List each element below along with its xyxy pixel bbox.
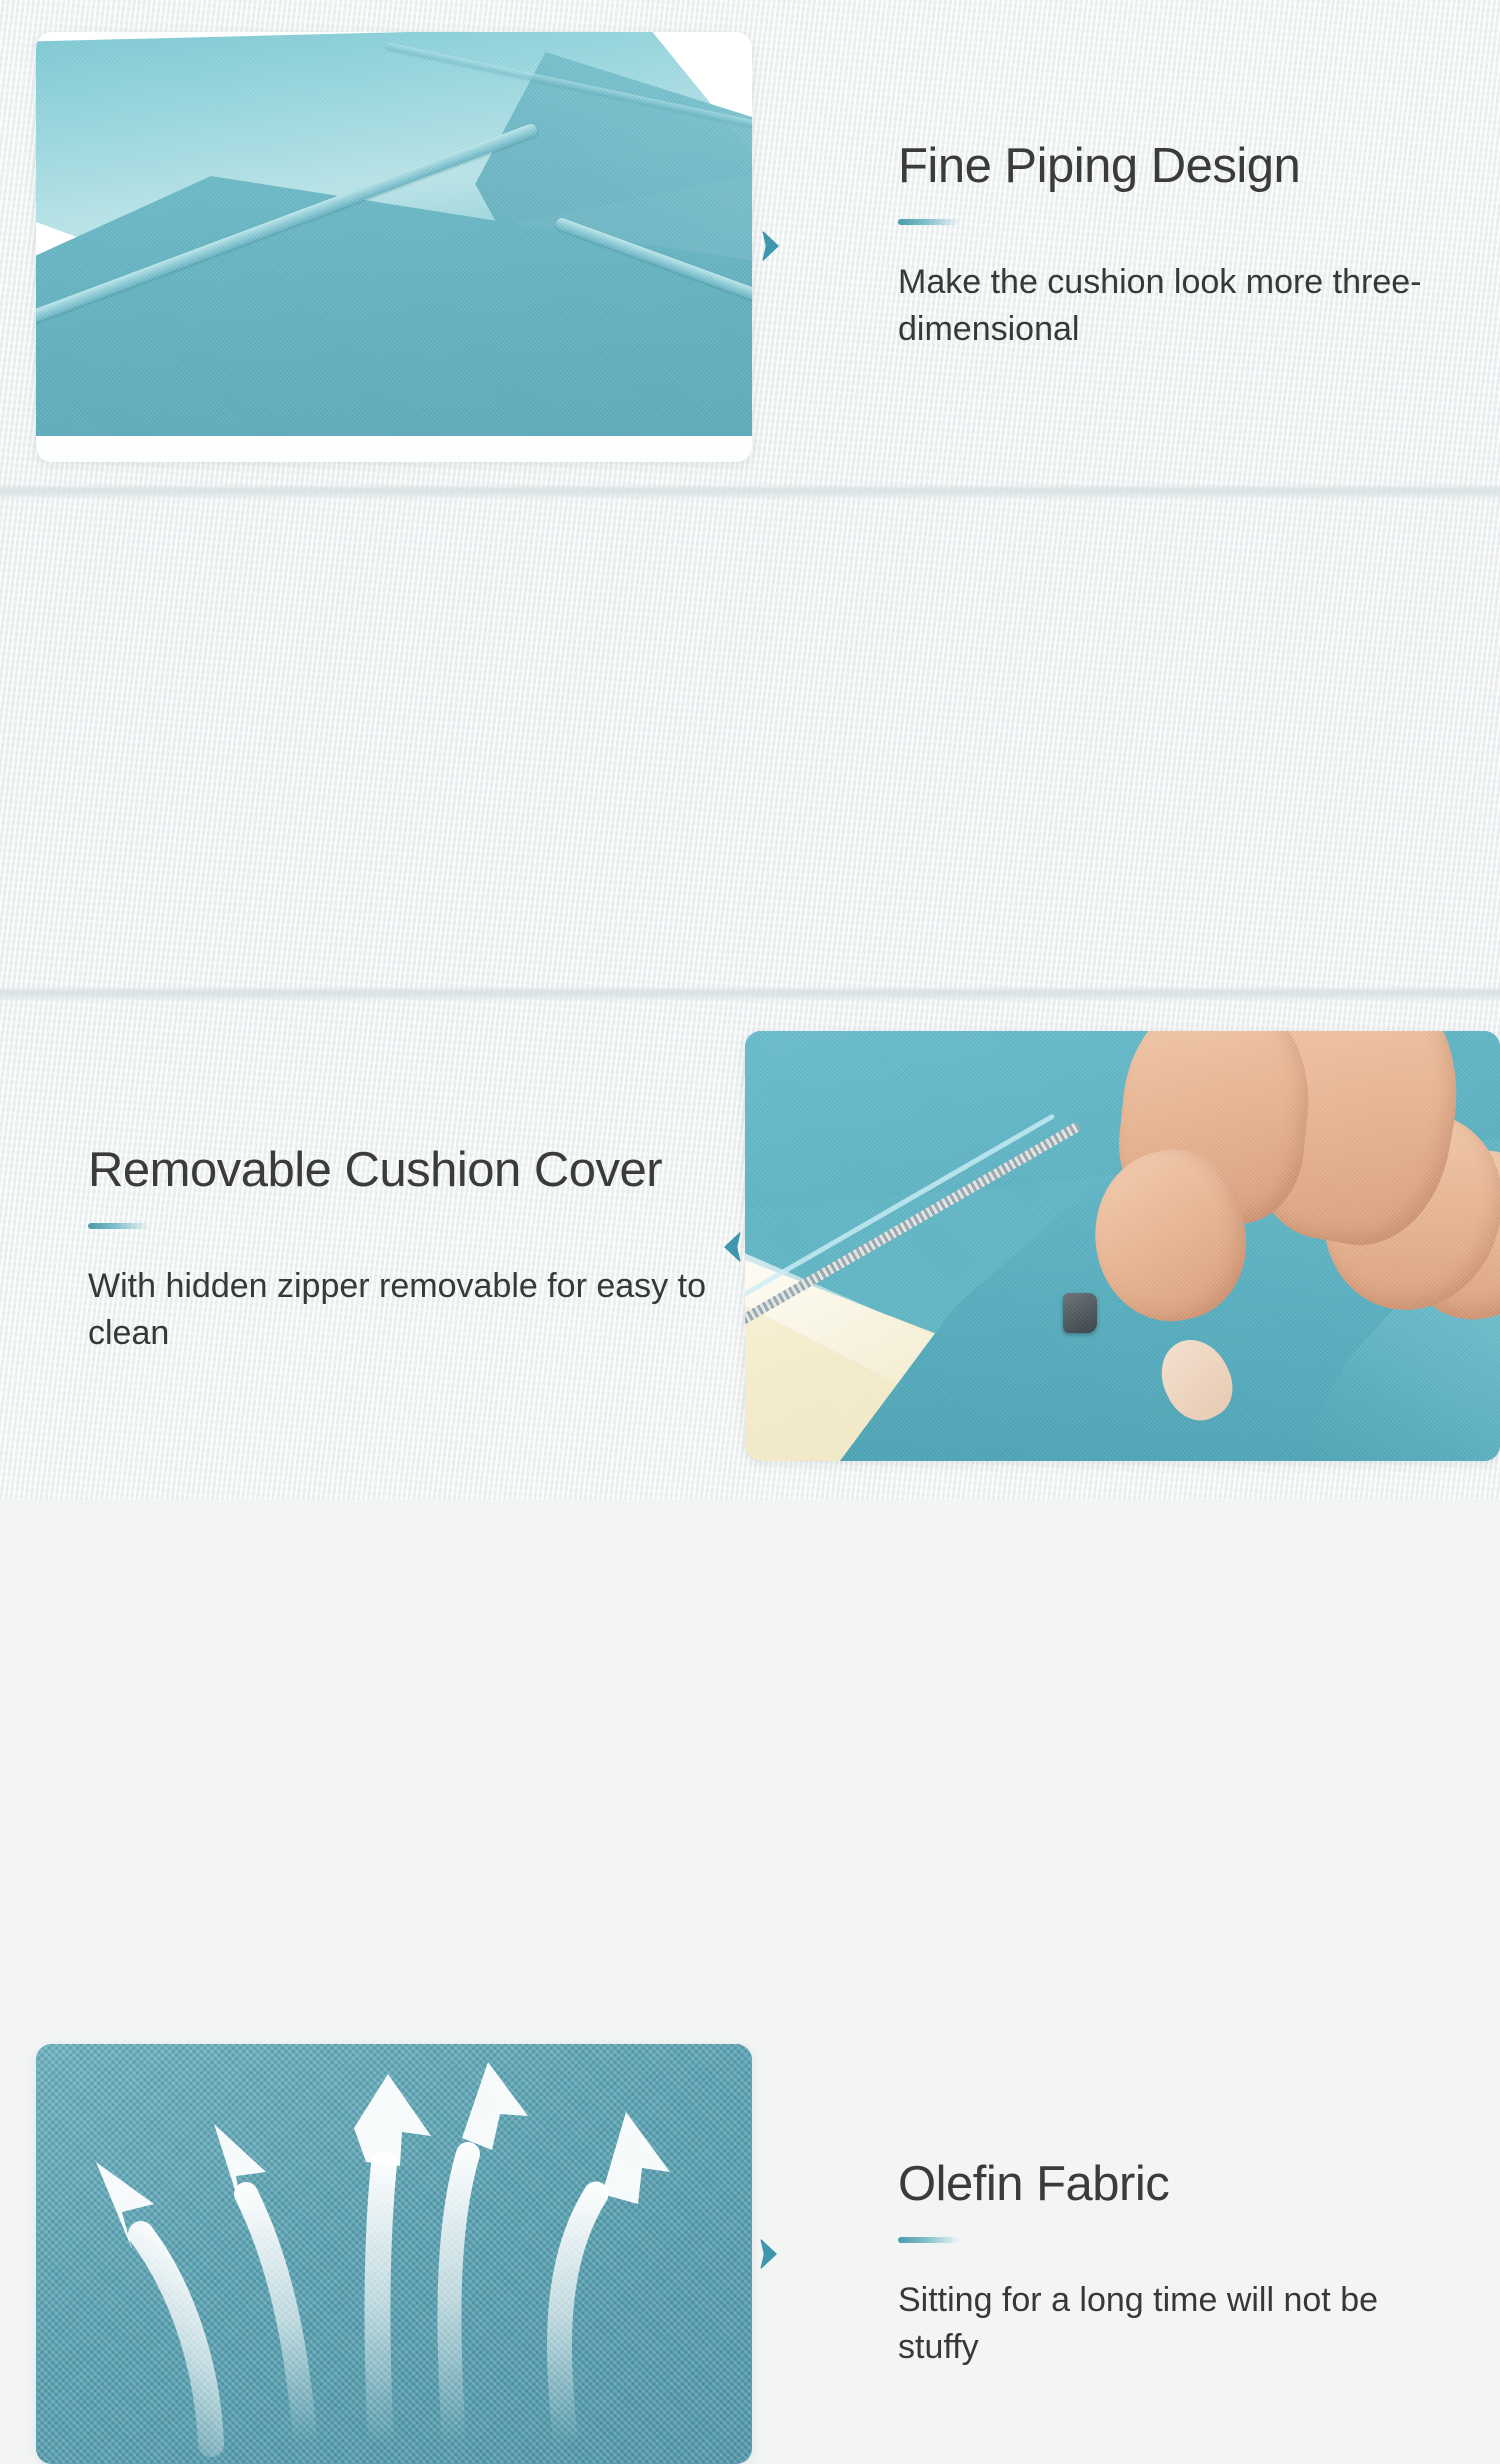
feature-text-fine-piping-design: Fine Piping Design Make the cushion look… xyxy=(898,140,1458,353)
airflow-arrows-group xyxy=(36,2044,752,2464)
feature-section-fine-piping-design: Fine Piping Design Make the cushion look… xyxy=(0,0,1500,488)
olefin-fabric-photo xyxy=(36,2044,752,2464)
caret-right-icon xyxy=(762,230,779,262)
title-accent-bar xyxy=(898,2237,960,2243)
feature-description: Sitting for a long time will not be stuf… xyxy=(898,2277,1458,2371)
feature-section-olefin-fabric: Olefin Fabric Sitting for a long time wi… xyxy=(0,998,1500,1500)
feature-title: Olefin Fabric xyxy=(898,2158,1458,2211)
airflow-arrow-5 xyxy=(559,2112,670,2444)
title-accent-bar xyxy=(898,219,960,225)
airflow-arrow-3 xyxy=(354,2074,431,2444)
feature-description: Make the cushion look more three-dimensi… xyxy=(898,259,1458,353)
airflow-arrow-4 xyxy=(449,2062,528,2444)
photo-bottom-whitespace xyxy=(36,436,752,462)
cushion-corner-photo xyxy=(36,32,752,462)
feature-section-removable-cushion-cover: Removable Cushion Cover With hidden zipp… xyxy=(0,496,1500,988)
caret-right-icon xyxy=(760,2238,777,2270)
feature-title: Fine Piping Design xyxy=(898,140,1458,193)
airflow-arrow-1 xyxy=(96,2162,211,2444)
feature-text-olefin-fabric: Olefin Fabric Sitting for a long time wi… xyxy=(898,2158,1458,2371)
cushion-illustration xyxy=(36,32,752,462)
airflow-arrow-2 xyxy=(214,2124,306,2444)
